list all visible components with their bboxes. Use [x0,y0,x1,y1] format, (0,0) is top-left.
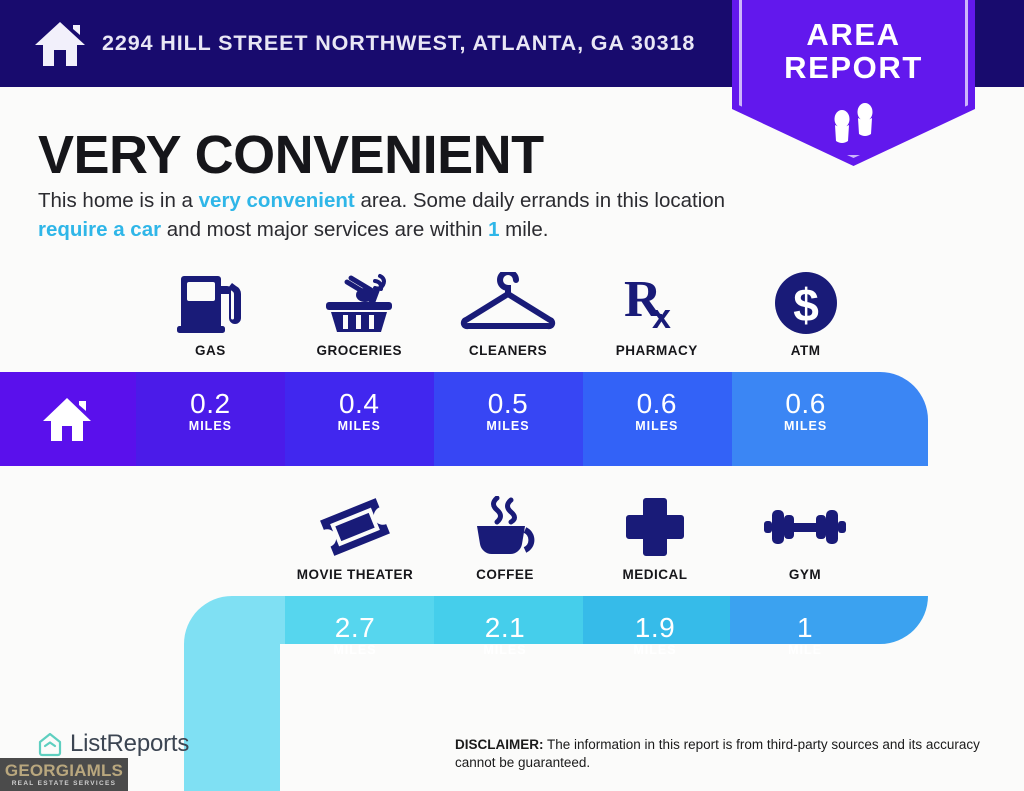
row2-left-tail [150,656,290,791]
distance-value: 0.6 [582,388,731,420]
distance-atm: 0.6 MILES [731,388,880,433]
listreports-logo: ListReports [36,730,189,758]
row1-distance-labels: 0.2 MILES 0.4 MILES 0.5 MILES 0.6 MILES … [136,388,880,433]
amenities-row-1: GAS GROCERIES CLEANERS [136,272,880,358]
row2-left-cap [150,556,285,656]
amenity-groceries: GROCERIES [285,272,434,358]
badge-line-2: REPORT [732,51,975,84]
distance-medical: 1.9 MILES [580,612,730,657]
distance-movie-theater: 2.7 MILES [280,612,430,657]
amenity-atm: $ ATM [731,272,880,358]
amenity-label: GROCERIES [316,343,402,358]
home-icon [33,19,87,69]
distance-coffee: 2.1 MILES [430,612,580,657]
row2-distance-labels: 2.7 MILES 2.1 MILES 1.9 MILES 1 MILE [280,612,880,657]
distance-value: 1 [730,612,880,644]
distance-gym: 1 MILE [730,612,880,657]
page-title: VERY CONVENIENT [38,124,544,186]
distance-snake-bars [0,370,1024,791]
home-icon [41,396,93,444]
distance-unit: MILES [136,419,285,433]
desc-part-2: area. Some daily errands in this locatio… [355,189,725,212]
distance-gas: 0.2 MILES [136,388,285,433]
distance-pharmacy: 0.6 MILES [582,388,731,433]
grocery-basket-icon [318,272,400,334]
distance-value: 0.6 [731,388,880,420]
amenity-cleaners: CLEANERS [434,272,583,358]
mls-name-main: GEORGIA [5,761,87,780]
amenity-label: PHARMACY [616,343,698,358]
disclaimer-label: DISCLAIMER: [455,737,544,752]
distance-unit: MILES [280,643,430,657]
distance-unit: MILES [434,419,583,433]
desc-part-1: This home is in a [38,189,199,212]
distance-value: 0.2 [136,388,285,420]
amenity-label: ATM [791,343,821,358]
distance-unit: MILES [582,419,731,433]
desc-part-4: mile. [499,218,548,241]
prescription-rx-icon: R x [622,272,692,334]
distance-unit: MILES [580,643,730,657]
mls-name-accent: MLS [87,761,123,780]
footprints-icon [828,103,880,149]
distance-value: 2.1 [430,612,580,644]
svg-text:$: $ [793,279,819,331]
desc-part-3: and most major services are within [161,218,488,241]
distance-unit: MILES [285,419,434,433]
amenity-label: CLEANERS [469,343,547,358]
mls-tagline: REAL ESTATE SERVICES [12,780,117,787]
distance-value: 0.4 [285,388,434,420]
distance-value: 1.9 [580,612,730,644]
amenity-pharmacy: R x PHARMACY [582,272,731,358]
listreports-name: ListReports [70,730,189,758]
house-outline-icon [36,730,64,758]
amenity-label: GAS [195,343,226,358]
connector-lower [860,556,1024,656]
svg-text:x: x [652,298,671,334]
clothes-hanger-icon [456,272,560,334]
distance-unit: MILES [731,419,880,433]
distance-unit: MILES [430,643,580,657]
area-report-badge-text: AREA REPORT [732,18,975,85]
description-text: This home is in a very convenient area. … [38,186,750,244]
distance-unit: MILE [730,643,880,657]
amenity-gas: GAS [136,272,285,358]
distance-groceries: 0.4 MILES [285,388,434,433]
atm-dollar-icon: $ [773,272,839,334]
distance-value: 2.7 [280,612,430,644]
desc-highlight-1: very convenient [199,189,355,212]
mls-name: GEORGIAMLS [5,762,123,779]
georgia-mls-logo: GEORGIAMLS REAL ESTATE SERVICES [0,758,128,791]
distance-value: 0.5 [434,388,583,420]
gas-pump-icon [173,272,247,334]
property-address: 2294 HILL STREET NORTHWEST, ATLANTA, GA … [102,31,695,56]
disclaimer: DISCLAIMER: The information in this repo… [455,736,995,772]
desc-highlight-2: require a car [38,218,161,241]
distance-cleaners: 0.5 MILES [434,388,583,433]
connector-upper [860,460,1024,556]
badge-line-1: AREA [732,18,975,51]
desc-highlight-3: 1 [488,218,499,241]
